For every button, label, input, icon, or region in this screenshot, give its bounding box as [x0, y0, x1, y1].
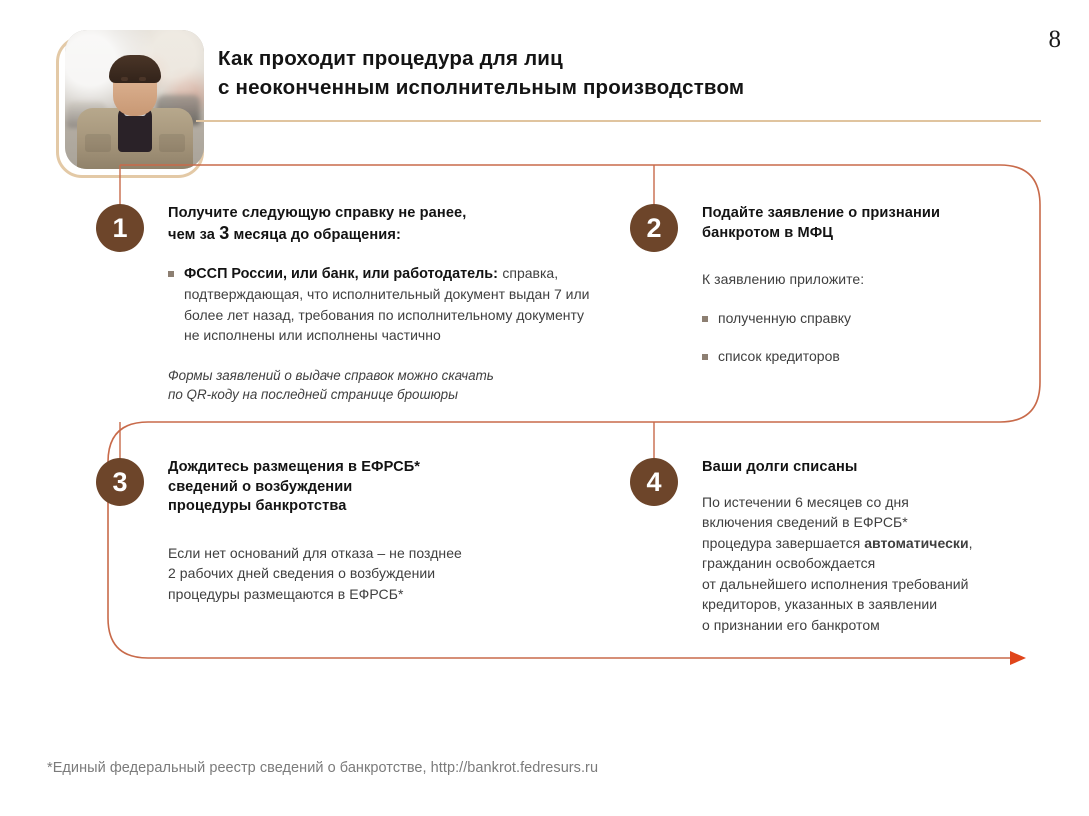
step-2-intro: К заявлению приложите:	[702, 269, 1032, 290]
step-4-body-line-7: о признании его банкротом	[702, 615, 1052, 636]
step-2-title: Подайте заявление о признании банкротом …	[702, 204, 1032, 243]
step-4-body: Ваши долги списаны По истечении 6 месяце…	[702, 458, 1052, 635]
step-4-emphasis: автоматически	[864, 535, 968, 551]
step-2-list-item-1: полученную справку	[702, 308, 1032, 328]
step-1-title-line-1: Получите следующую справку не ранее,	[168, 205, 466, 221]
title-divider	[196, 120, 1041, 122]
step-1-note-line-2: по QR-коду на последней странице брошюры	[168, 385, 598, 405]
step-4-body-line-1: По истечении 6 месяцев со дня	[702, 492, 1052, 513]
step-3-body: Дождитесь размещения в ЕФРСБ* сведений о…	[168, 458, 588, 604]
square-bullet-icon	[702, 316, 708, 322]
step-3-body-line-2: 2 рабочих дней сведения о возбуждении	[168, 563, 588, 584]
step-4-badge: 4	[630, 458, 678, 506]
step-1-title-post: месяца до обращения:	[229, 227, 401, 243]
step-2-list-item-2-label: список кредиторов	[718, 346, 840, 366]
step-3-title: Дождитесь размещения в ЕФРСБ* сведений о…	[168, 458, 588, 517]
square-bullet-icon	[702, 354, 708, 360]
step-2-list-item-1-label: полученную справку	[718, 308, 851, 328]
step-1-note: Формы заявлений о выдаче справок можно с…	[168, 366, 598, 405]
footnote: *Единый федеральный реестр сведений о ба…	[47, 760, 598, 776]
step-4-body-line-3c: ,	[969, 535, 973, 551]
page-title: Как проходит процедура для лиц с неоконч…	[218, 44, 898, 102]
step-3-title-line-1: Дождитесь размещения в ЕФРСБ*	[168, 458, 588, 478]
step-4-body-line-5: от дальнейшего исполнения требований	[702, 574, 1052, 595]
slide-root: 8 Как проходит процедура для лиц с неоко…	[0, 0, 1089, 816]
hero-photo-image	[65, 30, 204, 169]
page-number: 8	[1049, 26, 1062, 54]
step-4-body-line-6: кредиторов, указанных в заявлении	[702, 594, 1052, 615]
step-2-body: Подайте заявление о признании банкротом …	[702, 204, 1032, 366]
step-1-badge: 1	[96, 204, 144, 252]
step-4-body-line-3: процедура завершается автоматически,	[702, 533, 1052, 554]
step-2-title-line-1: Подайте заявление о признании	[702, 204, 1032, 224]
step-4-title: Ваши долги списаны	[702, 458, 1052, 478]
step-4-title-line-1: Ваши долги списаны	[702, 458, 1052, 478]
step-3-body-line-3: процедуры размещаются в ЕФРСБ*	[168, 584, 588, 605]
step-2-title-line-2: банкротом в МФЦ	[702, 224, 1032, 244]
step-4-body-line-4: гражданин освобождается	[702, 553, 1052, 574]
flow-arrowhead-icon	[1010, 651, 1026, 665]
photo-person-eye-right	[139, 77, 146, 81]
step-2-badge: 2	[630, 204, 678, 252]
step-1-bullet-1: ФССП России, или банк, или работодатель:…	[168, 263, 598, 346]
square-bullet-icon	[168, 271, 174, 277]
step-1-title: Получите следующую справку не ранее, чем…	[168, 204, 598, 245]
step-1-title-mid: чем за	[168, 227, 219, 243]
page-title-line-1: Как проходит процедура для лиц	[218, 44, 898, 73]
step-1-note-line-1: Формы заявлений о выдаче справок можно с…	[168, 366, 598, 386]
step-1-bullet-1-content: ФССП России, или банк, или работодатель:…	[184, 263, 598, 346]
step-3-title-line-2: сведений о возбуждении	[168, 478, 588, 498]
step-4-body-text: По истечении 6 месяцев со дня включения …	[702, 492, 1052, 636]
step-3-title-line-3: процедуры банкротства	[168, 497, 588, 517]
step-3-body-text: Если нет оснований для отказа – не поздн…	[168, 543, 588, 605]
step-4-body-line-2: включения сведений в ЕФРСБ*	[702, 512, 1052, 533]
hero-photo-frame	[56, 30, 204, 178]
photo-person-eye-left	[121, 77, 128, 81]
step-3-body-line-1: Если нет оснований для отказа – не поздн…	[168, 543, 588, 564]
photo-person-hair	[109, 55, 161, 83]
page-title-line-2: с неоконченным исполнительным производст…	[218, 73, 898, 102]
step-4-body-line-3a: процедура завершается	[702, 535, 864, 551]
step-2-list-item-2: список кредиторов	[702, 346, 1032, 366]
step-1-title-number: 3	[219, 223, 229, 243]
step-3-badge: 3	[96, 458, 144, 506]
step-1-bullet-1-head: ФССП России, или банк, или работодатель:	[184, 266, 498, 282]
step-1-body: Получите следующую справку не ранее, чем…	[168, 204, 598, 405]
